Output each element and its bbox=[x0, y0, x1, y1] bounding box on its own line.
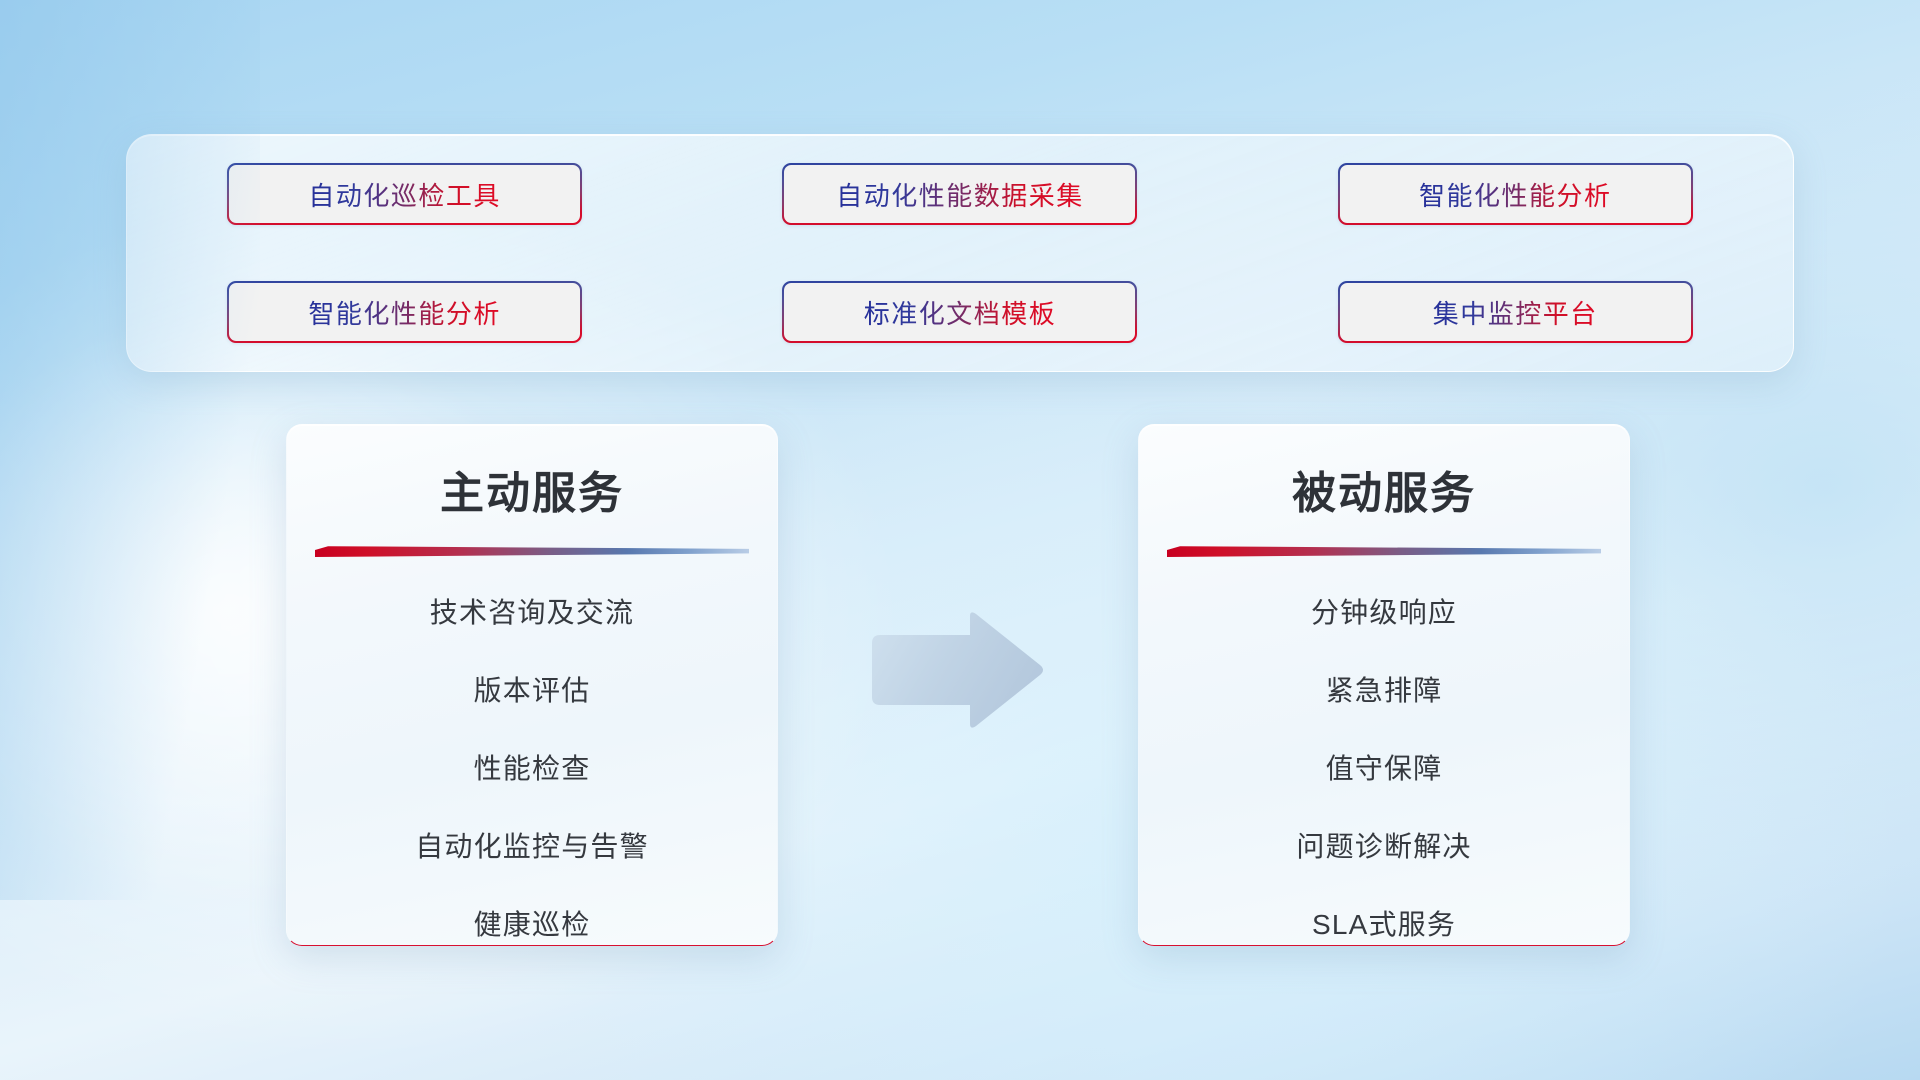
capability-chip-1[interactable]: 自动化性能数据采集 bbox=[782, 163, 1137, 225]
service-item-list: 分钟级响应 紧急排障 值守保障 问题诊断解决 SLA式服务 bbox=[1139, 591, 1629, 943]
capability-chip-5[interactable]: 集中监控平台 bbox=[1338, 281, 1693, 343]
service-item: 健康巡检 bbox=[287, 903, 777, 943]
card-divider bbox=[315, 545, 749, 557]
capability-chip-3[interactable]: 智能化性能分析 bbox=[227, 281, 582, 343]
capability-chip-0[interactable]: 自动化巡检工具 bbox=[227, 163, 582, 225]
capability-chip-label: 自动化巡检工具 bbox=[308, 176, 501, 213]
card-title: 被动服务 bbox=[1139, 457, 1629, 521]
arrow-right-icon bbox=[866, 610, 1046, 730]
service-item: 自动化监控与告警 bbox=[287, 825, 777, 865]
slide-canvas: 自动化巡检工具 自动化性能数据采集 智能化性能分析 智能化性能分析 标准化文档模… bbox=[0, 0, 1920, 1080]
service-item: 版本评估 bbox=[287, 669, 777, 709]
capability-chip-label: 集中监控平台 bbox=[1433, 294, 1598, 331]
service-item: SLA式服务 bbox=[1139, 903, 1629, 943]
service-item: 紧急排障 bbox=[1139, 669, 1629, 709]
card-divider-bar bbox=[315, 545, 749, 557]
capability-panel: 自动化巡检工具 自动化性能数据采集 智能化性能分析 智能化性能分析 标准化文档模… bbox=[126, 134, 1794, 372]
card-title: 主动服务 bbox=[287, 457, 777, 521]
capability-chip-label: 标准化文档模板 bbox=[864, 294, 1057, 331]
service-item: 技术咨询及交流 bbox=[287, 591, 777, 631]
flow-arrow bbox=[866, 610, 1046, 730]
capability-chip-4[interactable]: 标准化文档模板 bbox=[782, 281, 1137, 343]
capability-chip-label: 自动化性能数据采集 bbox=[836, 176, 1084, 213]
service-item: 问题诊断解决 bbox=[1139, 825, 1629, 865]
service-card-proactive: 主动服务 技术咨询及交流 版本评估 性能检查 自动化监控与告警 健康巡检 bbox=[286, 424, 778, 946]
capability-chip-label: 智能化性能分析 bbox=[308, 294, 501, 331]
service-card-reactive: 被动服务 分钟级响应 紧急排障 值守保障 问题诊断解决 SLA式服务 bbox=[1138, 424, 1630, 946]
service-item: 性能检查 bbox=[287, 747, 777, 787]
card-divider-bar bbox=[1167, 545, 1601, 557]
service-item: 分钟级响应 bbox=[1139, 591, 1629, 631]
card-divider bbox=[1167, 545, 1601, 557]
capability-chip-2[interactable]: 智能化性能分析 bbox=[1338, 163, 1693, 225]
service-item-list: 技术咨询及交流 版本评估 性能检查 自动化监控与告警 健康巡检 bbox=[287, 591, 777, 943]
service-item: 值守保障 bbox=[1139, 747, 1629, 787]
capability-chip-label: 智能化性能分析 bbox=[1419, 176, 1612, 213]
